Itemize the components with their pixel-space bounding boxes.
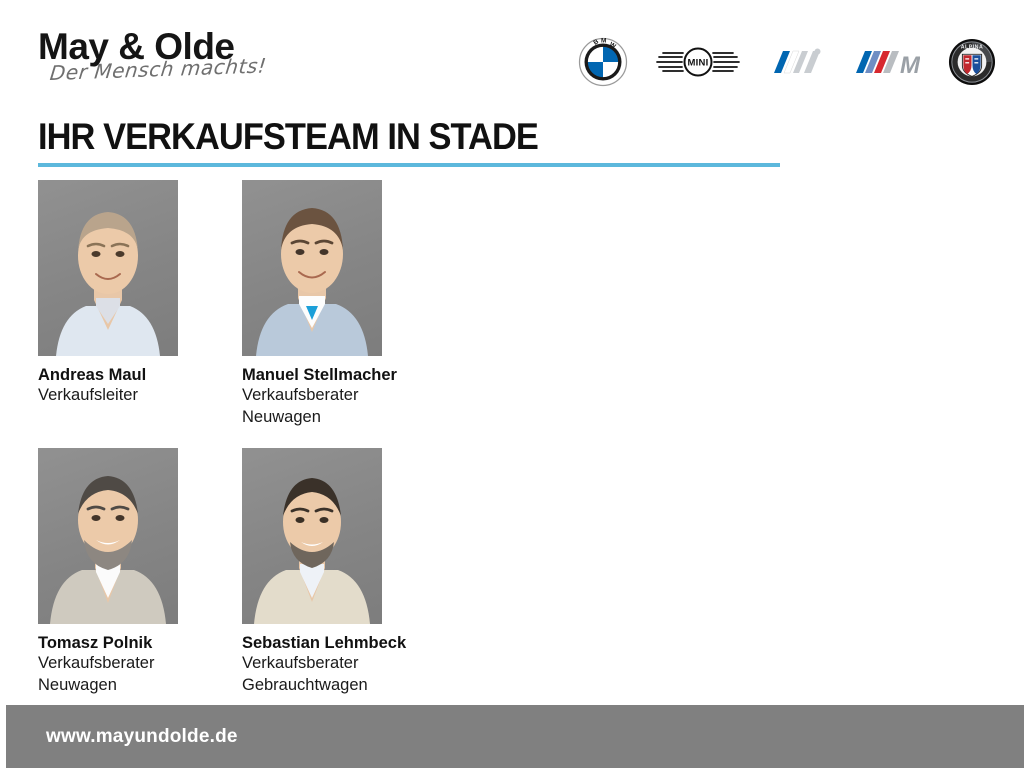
team-member-name: Andreas Maul xyxy=(38,365,178,385)
team-grid: Andreas Maul Verkaufsleiter xyxy=(38,180,458,696)
header: May & Olde Der Mensch machts! B M xyxy=(0,0,1024,110)
bmw-m-logo: M xyxy=(854,36,920,88)
mini-logo-icon: MINI xyxy=(656,43,740,81)
footer-website-url[interactable]: www.mayundolde.de xyxy=(46,726,238,748)
team-member-role-line2: Neuwagen xyxy=(242,407,382,429)
slide: May & Olde Der Mensch machts! B M xyxy=(0,0,1024,768)
page-title: IHR VERKAUFSTEAM IN STADE xyxy=(38,118,745,157)
bmw-i-logo-icon xyxy=(768,47,826,77)
team-member-name: Sebastian Lehmbeck xyxy=(242,633,382,653)
footer-bar: www.mayundolde.de xyxy=(6,705,1024,768)
title-block: IHR VERKAUFSTEAM IN STADE xyxy=(38,118,798,167)
portrait-illustration xyxy=(242,448,382,624)
team-member-card: Manuel Stellmacher Verkaufsberater Neuwa… xyxy=(242,180,382,429)
portrait-illustration xyxy=(242,180,382,356)
portrait-illustration xyxy=(38,180,178,356)
svg-text:M: M xyxy=(900,52,920,77)
team-member-role-line2: Gebrauchtwagen xyxy=(242,675,382,697)
team-row: Andreas Maul Verkaufsleiter xyxy=(38,180,458,429)
alpina-logo: ALPINA xyxy=(948,36,996,88)
team-member-role-line1: Verkaufsberater xyxy=(38,653,178,675)
team-member-card: Sebastian Lehmbeck Verkaufsberater Gebra… xyxy=(242,448,382,697)
team-member-role-line1: Verkaufsberater xyxy=(242,653,382,675)
svg-text:MINI: MINI xyxy=(687,58,708,69)
team-row: Tomasz Polnik Verkaufsberater Neuwagen xyxy=(38,448,458,697)
team-member-name: Manuel Stellmacher xyxy=(242,365,382,385)
team-member-name: Tomasz Polnik xyxy=(38,633,178,653)
team-member-photo xyxy=(38,180,178,356)
svg-text:ALPINA: ALPINA xyxy=(961,45,983,51)
svg-text:M: M xyxy=(601,38,606,45)
brand-logo-strip: B M W MINI xyxy=(578,34,996,90)
title-underline xyxy=(38,163,780,167)
team-member-card: Tomasz Polnik Verkaufsberater Neuwagen xyxy=(38,448,178,697)
portrait-illustration xyxy=(38,448,178,624)
company-logo: May & Olde Der Mensch machts! xyxy=(38,28,338,85)
team-member-role-line2: Neuwagen xyxy=(38,675,178,697)
bmw-i-logo xyxy=(768,36,826,88)
bmw-logo: B M W xyxy=(578,36,628,88)
team-member-photo xyxy=(242,180,382,356)
team-member-role-line1: Verkaufsberater xyxy=(242,385,382,407)
bmw-m-logo-icon: M xyxy=(854,47,920,77)
mini-logo: MINI xyxy=(656,36,740,88)
team-member-card: Andreas Maul Verkaufsleiter xyxy=(38,180,178,429)
team-member-photo xyxy=(38,448,178,624)
bmw-logo-icon: B M W xyxy=(578,37,628,87)
alpina-logo-icon: ALPINA xyxy=(948,38,996,86)
team-member-role-line1: Verkaufsleiter xyxy=(38,385,178,407)
team-member-photo xyxy=(242,448,382,624)
